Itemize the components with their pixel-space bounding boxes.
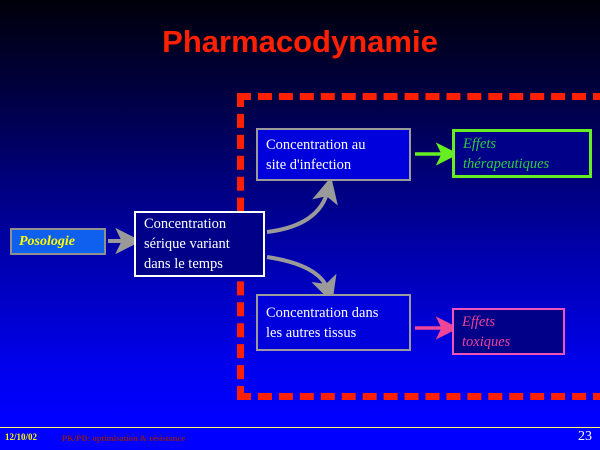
box-effets-toxiques-line-1: Effets	[462, 312, 563, 332]
box-concentration-site-infection: Concentration au site d'infection	[256, 128, 411, 181]
box-concentration-serique-line-1: Concentration	[144, 214, 263, 234]
box-concentration-autres-tissus-line-1: Concentration dans	[266, 303, 409, 323]
footer-page-number: 23	[578, 428, 592, 445]
footer-date: 12/10/02	[5, 431, 37, 443]
slide-canvas: Pharmacodynamie	[0, 0, 600, 450]
box-concentration-serique: Concentration sérique variant dans le te…	[134, 211, 265, 277]
box-concentration-site-infection-line-2: site d'infection	[266, 155, 409, 175]
box-effets-toxiques: Effets toxiques	[452, 308, 565, 355]
box-concentration-site-infection-line-1: Concentration au	[266, 135, 409, 155]
footer-divider	[0, 427, 600, 428]
box-concentration-serique-line-3: dans le temps	[144, 254, 263, 274]
box-concentration-serique-line-2: sérique variant	[144, 234, 263, 254]
footer-subtitle: PK/PD: optimisation & résistance	[62, 432, 185, 444]
box-posologie: Posologie	[10, 228, 106, 255]
box-effets-therapeutiques: Effets thérapeutiques	[452, 129, 592, 178]
box-effets-therapeutiques-line-1: Effets	[463, 134, 589, 154]
box-posologie-line-1: Posologie	[19, 234, 104, 250]
box-effets-therapeutiques-line-2: thérapeutiques	[463, 154, 589, 174]
box-concentration-autres-tissus: Concentration dans les autres tissus	[256, 294, 411, 351]
box-effets-toxiques-line-2: toxiques	[462, 332, 563, 352]
page-title: Pharmacodynamie	[0, 24, 600, 60]
box-concentration-autres-tissus-line-2: les autres tissus	[266, 323, 409, 343]
